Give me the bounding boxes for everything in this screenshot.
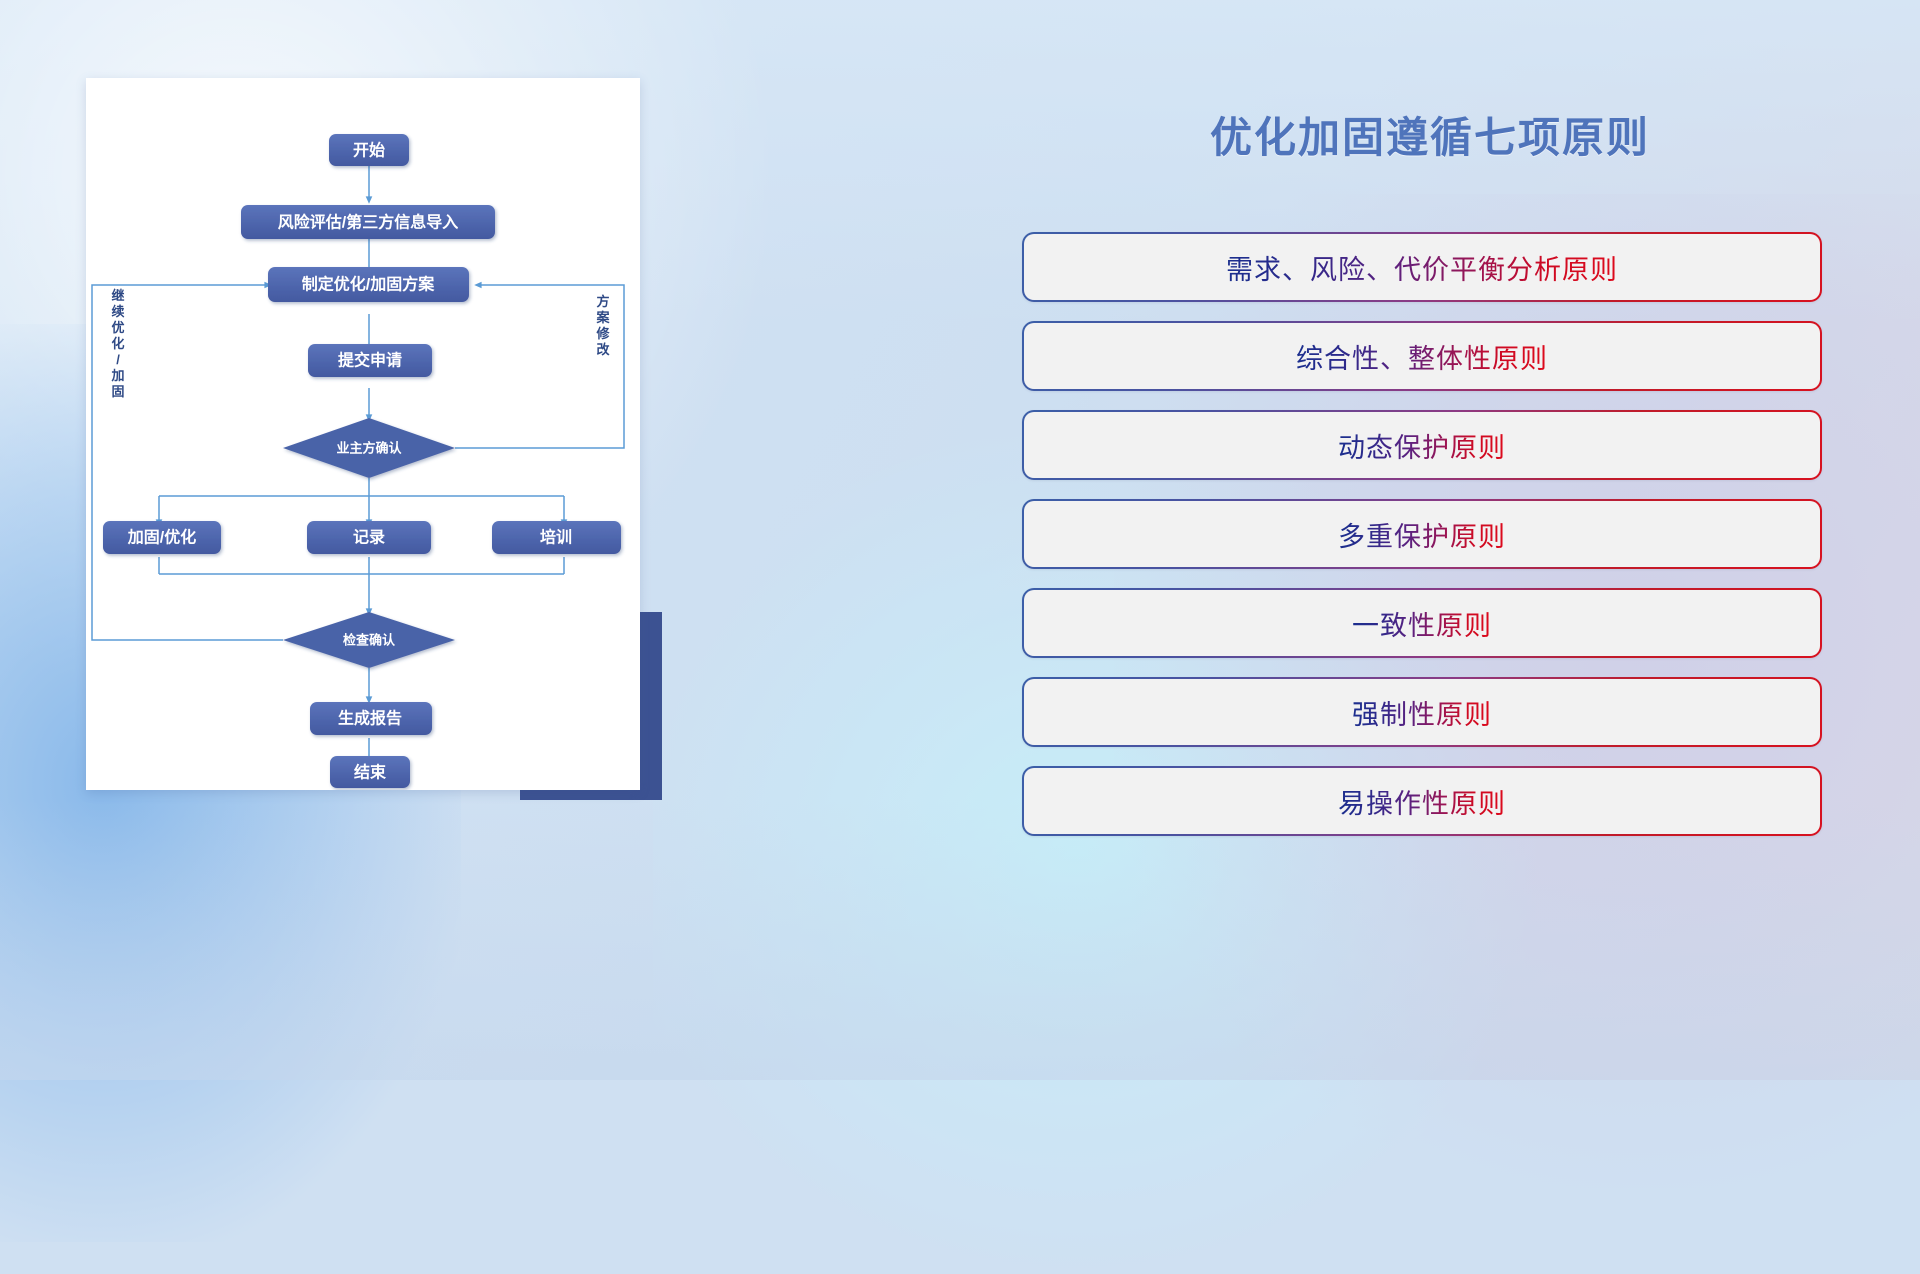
flow-node-risk-assessment-label: 风险评估/第三方信息导入	[278, 213, 458, 232]
flow-node-risk-assessment[interactable]: 风险评估/第三方信息导入	[241, 205, 495, 239]
principle-label-5: 一致性原则	[1352, 604, 1492, 643]
flow-node-reinforce[interactable]: 加固/优化	[103, 521, 221, 554]
principle-item-6[interactable]: 强制性原则	[1022, 677, 1822, 747]
principles-list: 需求、风险、代价平衡分析原则 综合性、整体性原则 动态保护原则 多重保护原则 一…	[1022, 232, 1822, 855]
flow-node-record[interactable]: 记录	[307, 521, 431, 554]
flow-node-check-confirm-label: 检查确认	[343, 633, 396, 648]
principle-item-7[interactable]: 易操作性原则	[1022, 766, 1822, 836]
flow-node-training[interactable]: 培训	[492, 521, 621, 554]
flow-node-plan[interactable]: 制定优化/加固方案	[268, 267, 469, 302]
flow-node-start[interactable]: 开始	[329, 134, 409, 166]
flow-node-plan-label: 制定优化/加固方案	[302, 275, 435, 294]
principle-item-1[interactable]: 需求、风险、代价平衡分析原则	[1022, 232, 1822, 302]
flow-edge-label-plan-revision: 方案修改	[595, 294, 610, 357]
flow-node-owner-confirm[interactable]: 业主方确认	[283, 418, 455, 478]
flow-node-generate-report[interactable]: 生成报告	[310, 702, 432, 735]
principle-label-3: 动态保护原则	[1338, 426, 1506, 465]
principles-panel: 优化加固遵循七项原则 需求、风险、代价平衡分析原则 综合性、整体性原则 动态保护…	[1020, 0, 1920, 1080]
principle-item-2[interactable]: 综合性、整体性原则	[1022, 321, 1822, 391]
principle-label-2: 综合性、整体性原则	[1296, 337, 1548, 376]
flow-node-owner-confirm-label: 业主方确认	[336, 441, 402, 456]
principle-label-4: 多重保护原则	[1338, 515, 1506, 554]
flowchart-region: 开始 风险评估/第三方信息导入 制定优化/加固方案 提交申请 业主方确认 加固/…	[0, 0, 820, 1080]
panel-title: 优化加固遵循七项原则	[1020, 104, 1840, 165]
principle-label-1: 需求、风险、代价平衡分析原则	[1226, 248, 1618, 287]
flow-node-end[interactable]: 结束	[330, 756, 410, 788]
flow-node-check-confirm[interactable]: 检查确认	[283, 612, 455, 668]
flow-node-submit-label: 提交申请	[338, 351, 402, 370]
principle-item-3[interactable]: 动态保护原则	[1022, 410, 1822, 480]
principle-label-6: 强制性原则	[1352, 693, 1492, 732]
principle-label-7: 易操作性原则	[1338, 782, 1506, 821]
principle-item-5[interactable]: 一致性原则	[1022, 588, 1822, 658]
flow-edge-label-continue-optimize: 继续优化/加固	[110, 288, 124, 399]
flow-node-submit[interactable]: 提交申请	[308, 344, 432, 377]
flow-node-end-label: 结束	[353, 763, 387, 782]
flow-node-training-label: 培训	[540, 528, 572, 547]
flow-node-reinforce-label: 加固/优化	[127, 528, 196, 547]
flow-node-record-label: 记录	[353, 529, 385, 547]
flow-node-start-label: 开始	[353, 141, 385, 160]
flowchart-diagram: 开始 风险评估/第三方信息导入 制定优化/加固方案 提交申请 业主方确认 加固/…	[86, 78, 640, 790]
principle-item-4[interactable]: 多重保护原则	[1022, 499, 1822, 569]
flow-node-generate-report-label: 生成报告	[338, 709, 402, 728]
